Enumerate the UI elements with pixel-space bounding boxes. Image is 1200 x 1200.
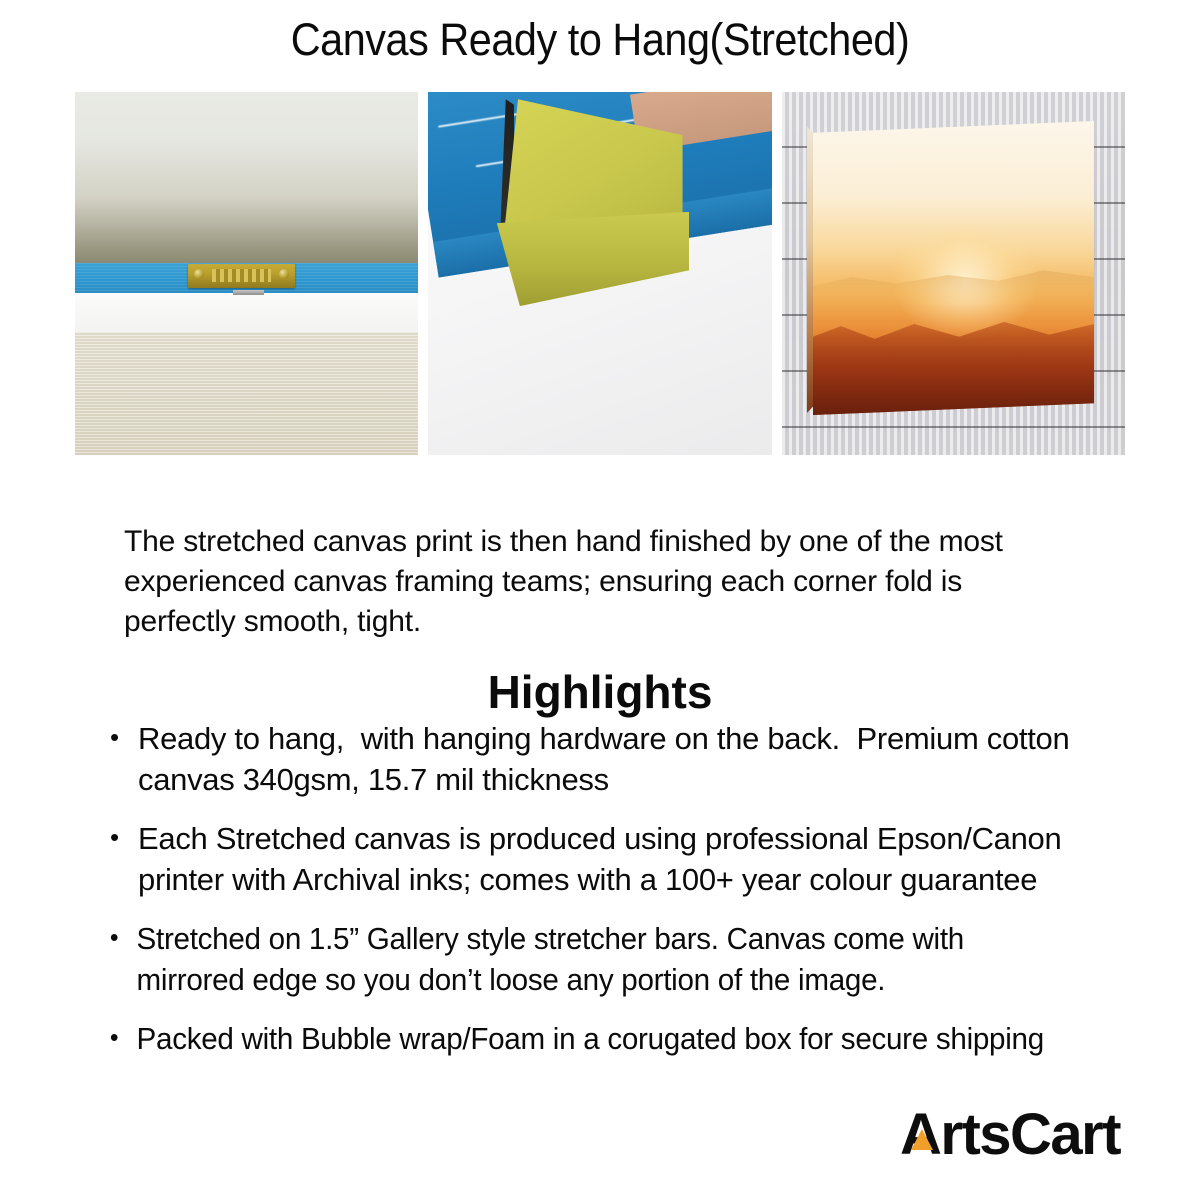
product-info-page: Canvas Ready to Hang(Stretched)	[0, 0, 1200, 1200]
hanger-screw-left	[194, 269, 204, 279]
hanger-screw-right	[279, 269, 289, 279]
highlights-heading: Highlights	[0, 665, 1200, 719]
list-item: Stretched on 1.5” Gallery style stretche…	[106, 918, 1071, 1000]
canvas-white-band	[75, 293, 418, 331]
canvas-on-wall-photo	[782, 92, 1125, 455]
canvas-corner-fold-photo	[428, 92, 772, 455]
product-photo-gallery	[75, 92, 1125, 455]
sunset-landscape-print	[813, 121, 1094, 415]
hanger-teeth	[212, 269, 272, 281]
list-item: Ready to hang, with hanging hardware on …	[106, 718, 1116, 800]
photo-background-wall	[75, 92, 418, 263]
highlights-list: Ready to hang, with hanging hardware on …	[106, 718, 1116, 1077]
logo-triangle-icon	[911, 1129, 933, 1150]
canvas-back-fabric	[75, 332, 418, 455]
intro-paragraph: The stretched canvas print is then hand …	[124, 522, 1074, 642]
list-item: Each Stretched canvas is produced using …	[106, 818, 1116, 900]
list-item: Packed with Bubble wrap/Foam in a coruga…	[106, 1018, 1071, 1059]
page-title: Canvas Ready to Hang(Stretched)	[48, 14, 1152, 66]
canvas-back-hanger-photo	[75, 92, 418, 455]
artscart-logo: ArtsCart	[900, 1104, 1120, 1166]
sawtooth-hanger-hardware	[188, 264, 294, 288]
logo-text: ArtsCart	[900, 1104, 1120, 1166]
hanger-wire-clip	[233, 290, 264, 295]
